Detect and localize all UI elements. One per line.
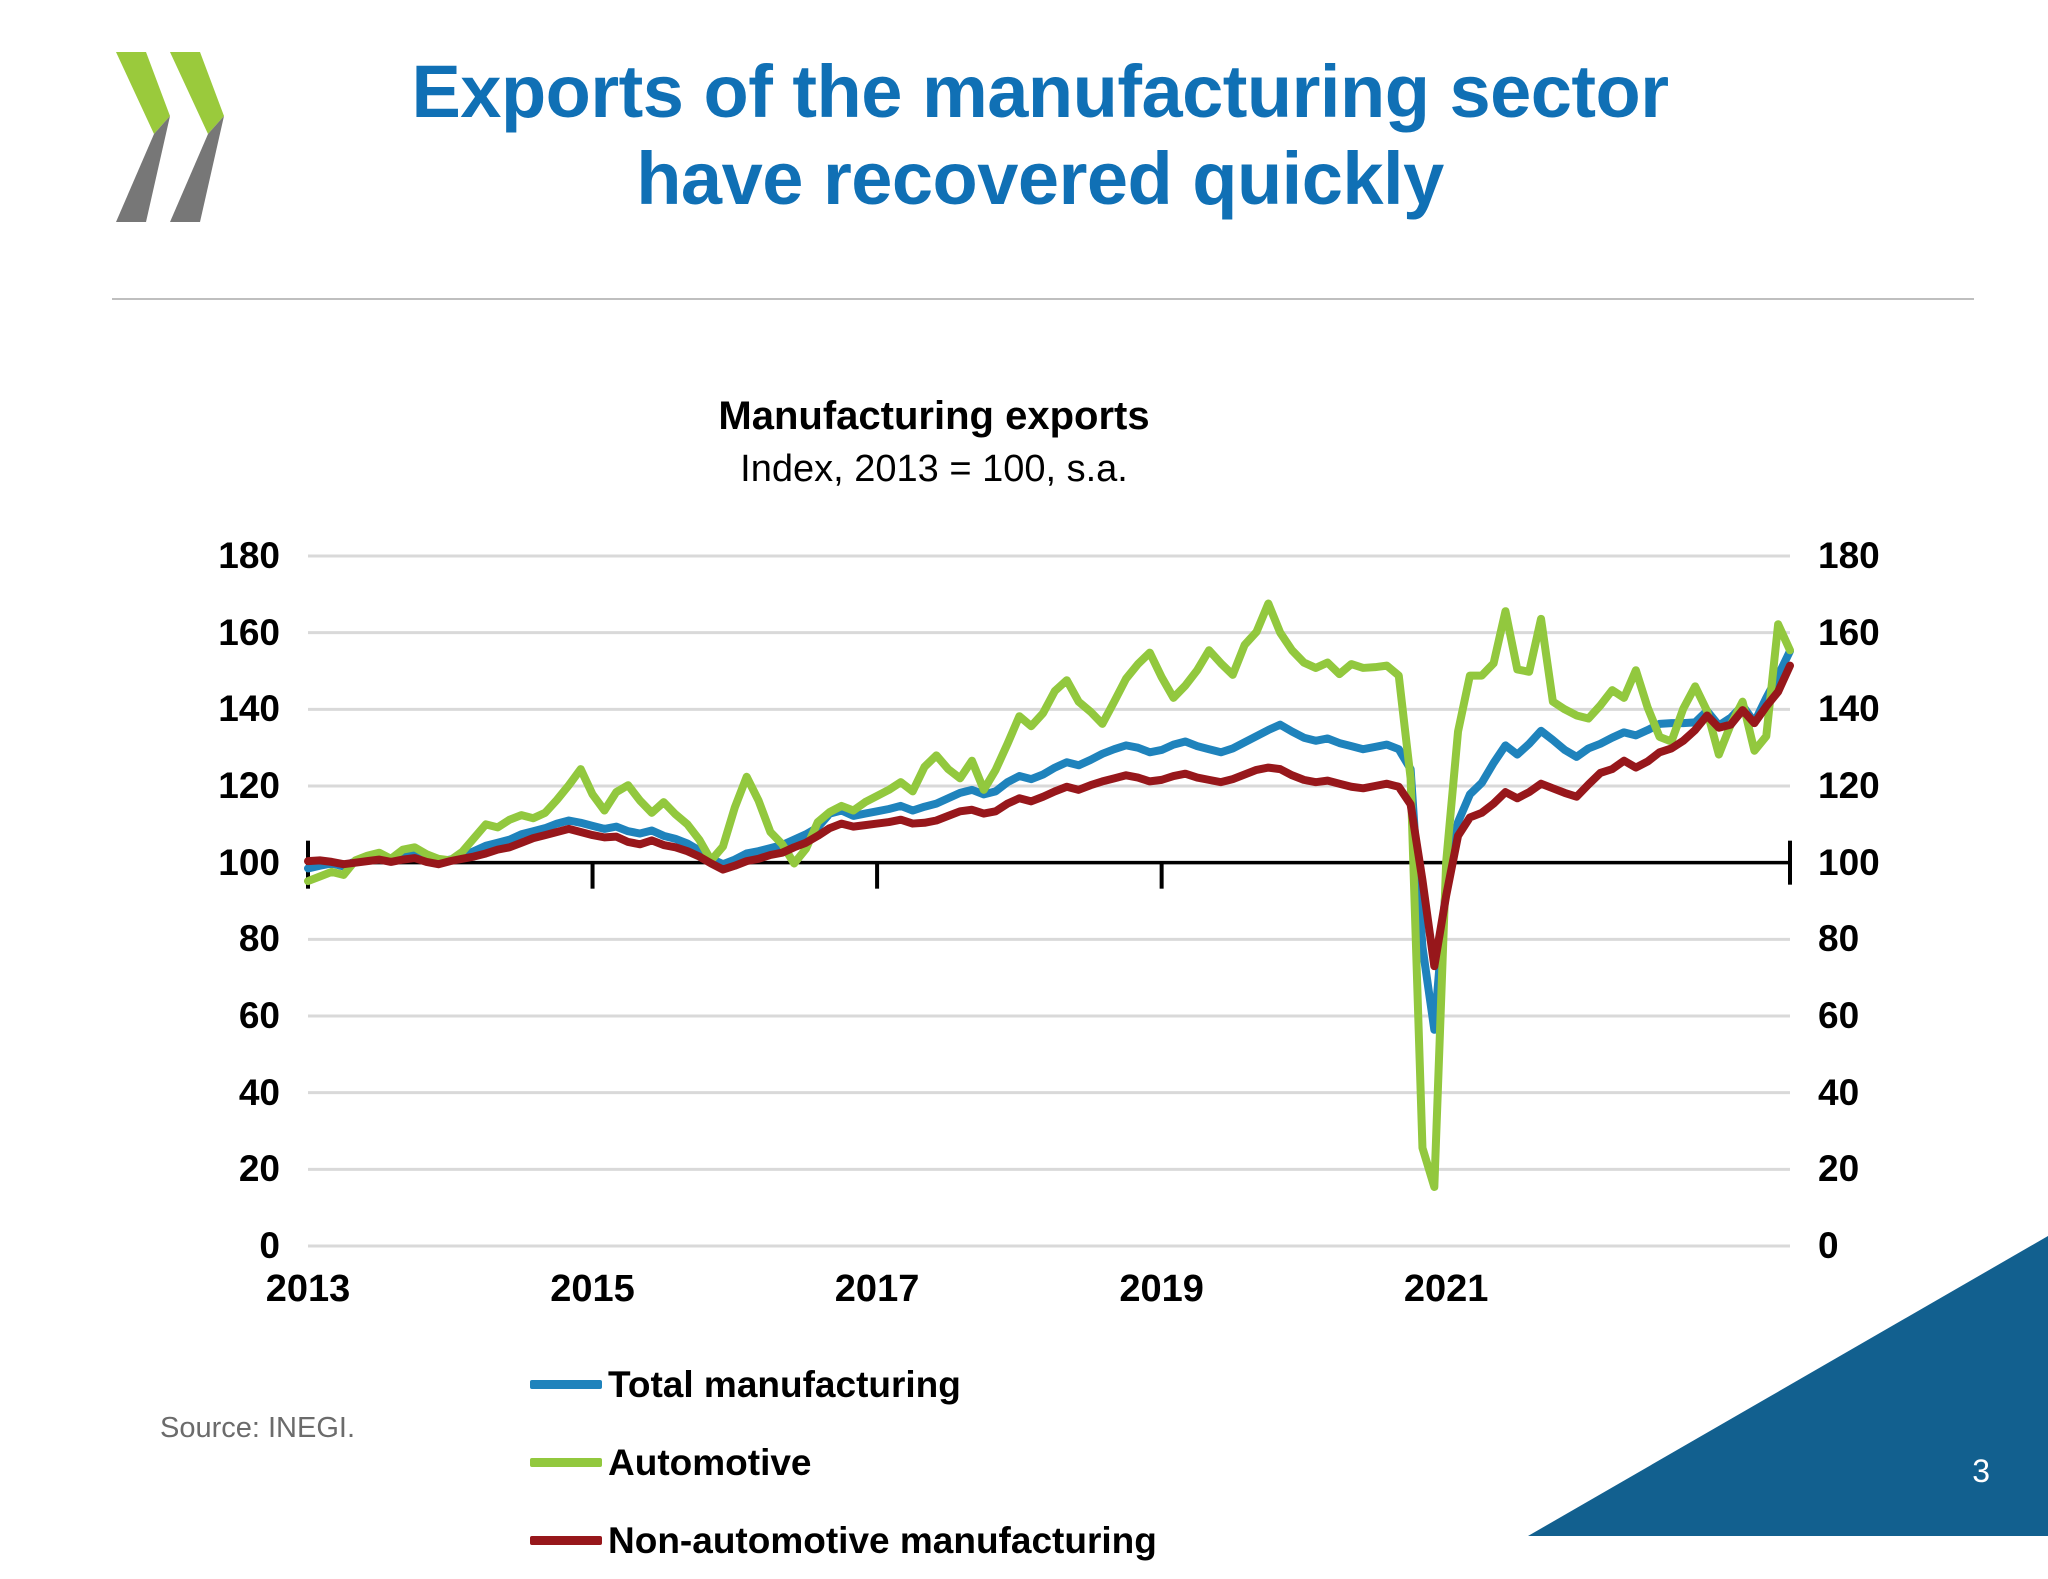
chart-legend: Total manufacturing Automotive Non-autom… bbox=[530, 1345, 1330, 1579]
legend-label-non-automotive-manufacturing: Non-automotive manufacturing bbox=[608, 1522, 1157, 1559]
y-axis-right-tick-label: 20 bbox=[1818, 1150, 1938, 1187]
x-axis-tick-label: 2017 bbox=[797, 1270, 957, 1308]
y-axis-left-tick-label: 100 bbox=[160, 844, 280, 881]
y-axis-left-tick-label: 0 bbox=[160, 1227, 280, 1264]
page-title-line-1: Exports of the manufacturing sector bbox=[270, 48, 1810, 135]
y-axis-left-tick-label: 40 bbox=[160, 1074, 280, 1111]
x-tick-marks bbox=[308, 863, 1446, 889]
y-axis-right-tick-label: 100 bbox=[1818, 844, 1938, 881]
chart-region: Manufacturing exports Index, 2013 = 100,… bbox=[0, 310, 2048, 1310]
slide-header: Exports of the manufacturing sector have… bbox=[0, 0, 2048, 310]
plot-area: 180160140120100806040200 180160140120100… bbox=[0, 310, 2048, 1310]
y-axis-left-tick-label: 20 bbox=[160, 1150, 280, 1187]
y-axis-right-tick-label: 140 bbox=[1818, 690, 1938, 727]
y-axis-right-tick-label: 180 bbox=[1818, 537, 1938, 574]
x-axis-tick-label: 2019 bbox=[1082, 1270, 1242, 1308]
series-line bbox=[308, 604, 1790, 1187]
y-axis-right-tick-label: 60 bbox=[1818, 997, 1938, 1034]
legend-swatch-total-manufacturing bbox=[530, 1380, 602, 1389]
y-axis-left-tick-label: 140 bbox=[160, 690, 280, 727]
legend-label-total-manufacturing: Total manufacturing bbox=[608, 1366, 961, 1403]
header-divider bbox=[112, 298, 1974, 300]
y-axis-right-tick-label: 40 bbox=[1818, 1074, 1938, 1111]
legend-item-non-automotive-manufacturing: Non-automotive manufacturing bbox=[530, 1501, 1330, 1579]
corner-accent-triangle bbox=[1528, 1236, 2048, 1536]
gridlines bbox=[308, 556, 1790, 1246]
x-axis-tick-label: 2015 bbox=[513, 1270, 673, 1308]
legend-label-automotive: Automotive bbox=[608, 1444, 812, 1481]
y-axis-left-tick-label: 180 bbox=[160, 537, 280, 574]
y-axis-left-tick-label: 120 bbox=[160, 767, 280, 804]
x-axis-tick-label: 2013 bbox=[228, 1270, 388, 1308]
axis-lines bbox=[308, 841, 1790, 885]
y-axis-left-tick-label: 60 bbox=[160, 997, 280, 1034]
legend-item-total-manufacturing: Total manufacturing bbox=[530, 1345, 1330, 1423]
y-axis-right-tick-label: 160 bbox=[1818, 614, 1938, 651]
legend-item-automotive: Automotive bbox=[530, 1423, 1330, 1501]
double-chevron-logo bbox=[112, 52, 230, 222]
line-chart-svg bbox=[0, 310, 2048, 1310]
source-note: Source: INEGI. bbox=[160, 1412, 355, 1445]
y-axis-left-tick-label: 160 bbox=[160, 614, 280, 651]
y-axis-left-tick-label: 80 bbox=[160, 920, 280, 957]
page-number: 3 bbox=[1972, 1453, 1990, 1490]
legend-swatch-automotive bbox=[530, 1458, 602, 1467]
x-axis-tick-label: 2021 bbox=[1366, 1270, 1526, 1308]
page-title-line-2: have recovered quickly bbox=[270, 135, 1810, 222]
y-axis-right-tick-label: 120 bbox=[1818, 767, 1938, 804]
page-title: Exports of the manufacturing sector have… bbox=[270, 48, 1970, 223]
data-series bbox=[308, 604, 1790, 1187]
legend-swatch-non-automotive-manufacturing bbox=[530, 1536, 602, 1545]
y-axis-right-tick-label: 80 bbox=[1818, 920, 1938, 957]
